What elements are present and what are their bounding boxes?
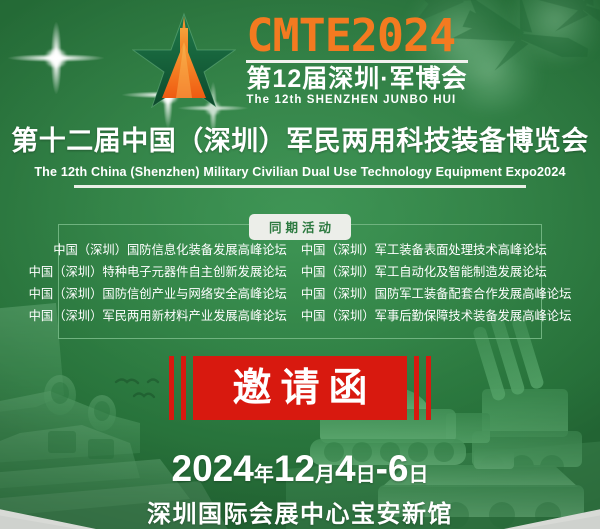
list-item[interactable]: 中国（深圳）军民两用新材料产业发展高峰论坛 bbox=[29, 307, 287, 327]
date-day-unit: 日 bbox=[356, 464, 376, 486]
invitation-banner: 邀请函 bbox=[0, 356, 600, 420]
logo-wordmark: CMTE2024 第12届深圳·军博会 The 12th SHENZHEN JU… bbox=[246, 13, 467, 107]
brand-latin-text: CMTE2024 bbox=[246, 13, 467, 58]
date-month-unit: 月 bbox=[315, 464, 335, 486]
brand-english-text: The 12th SHENZHEN JUNBO HUI bbox=[246, 94, 467, 107]
decor-bar-right-outer bbox=[426, 356, 431, 420]
brand-chinese-text: 第12届深圳·军博会 bbox=[246, 66, 467, 92]
date-range-separator: - bbox=[376, 448, 388, 489]
list-item[interactable]: 中国（深圳）国防军工装备配套合作发展高峰论坛 bbox=[301, 285, 572, 305]
concurrent-activities-badge: 同期活动 bbox=[249, 214, 351, 240]
list-item[interactable]: 中国（深圳）军事后勤保障技术装备发展高峰论坛 bbox=[301, 307, 572, 327]
forum-column-right: 中国（深圳）军工装备表面处理技术高峰论坛 中国（深圳）军工自动化及智能制造发展论… bbox=[301, 241, 572, 327]
list-item[interactable]: 中国（深圳）军工自动化及智能制造发展论坛 bbox=[301, 263, 547, 283]
expo-invitation-poster: CMTE2024 第12届深圳·军博会 The 12th SHENZHEN JU… bbox=[0, 0, 600, 529]
date-year-unit: 年 bbox=[254, 464, 274, 486]
date-day-end-unit: 日 bbox=[408, 464, 428, 486]
event-date: 2024年12月4日-6日 bbox=[0, 448, 600, 490]
star-rocket-logo-icon bbox=[132, 12, 236, 108]
date-day-start: 4 bbox=[335, 448, 356, 489]
expo-title-block: 第十二届中国（深圳）军民两用科技装备博览会 The 12th China (Sh… bbox=[0, 126, 600, 188]
logo-header: CMTE2024 第12届深圳·军博会 The 12th SHENZHEN JU… bbox=[0, 8, 600, 112]
invitation-label: 邀请函 bbox=[223, 369, 376, 408]
event-venue: 深圳国际会展中心宝安新馆 bbox=[0, 494, 600, 529]
invitation-label-box: 邀请函 bbox=[193, 356, 406, 420]
page-title: 第十二届中国（深圳）军民两用科技装备博览会 bbox=[0, 126, 600, 158]
date-day-end: 6 bbox=[388, 448, 409, 489]
title-divider bbox=[74, 185, 526, 188]
decor-bar-left-outer bbox=[169, 356, 174, 420]
list-item[interactable]: 中国（深圳）国防信息化装备发展高峰论坛 bbox=[53, 241, 287, 261]
decor-bar-right-inner bbox=[414, 356, 419, 420]
list-item[interactable]: 中国（深圳）军工装备表面处理技术高峰论坛 bbox=[301, 241, 547, 261]
date-year: 2024 bbox=[172, 448, 254, 489]
concurrent-activities-panel: 同期活动 中国（深圳）国防信息化装备发展高峰论坛 中国（深圳）特种电子元器件自主… bbox=[58, 224, 542, 339]
decor-bar-left-inner bbox=[181, 356, 186, 420]
page-subtitle: The 12th China (Shenzhen) Military Civil… bbox=[0, 165, 600, 179]
date-month: 12 bbox=[274, 448, 315, 489]
list-item[interactable]: 中国（深圳）特种电子元器件自主创新发展论坛 bbox=[29, 263, 287, 283]
forum-columns: 中国（深圳）国防信息化装备发展高峰论坛 中国（深圳）特种电子元器件自主创新发展论… bbox=[59, 241, 541, 327]
forum-column-left: 中国（深圳）国防信息化装备发展高峰论坛 中国（深圳）特种电子元器件自主创新发展论… bbox=[29, 241, 287, 327]
list-item[interactable]: 中国（深圳）国防信创产业与网络安全高峰论坛 bbox=[29, 285, 287, 305]
